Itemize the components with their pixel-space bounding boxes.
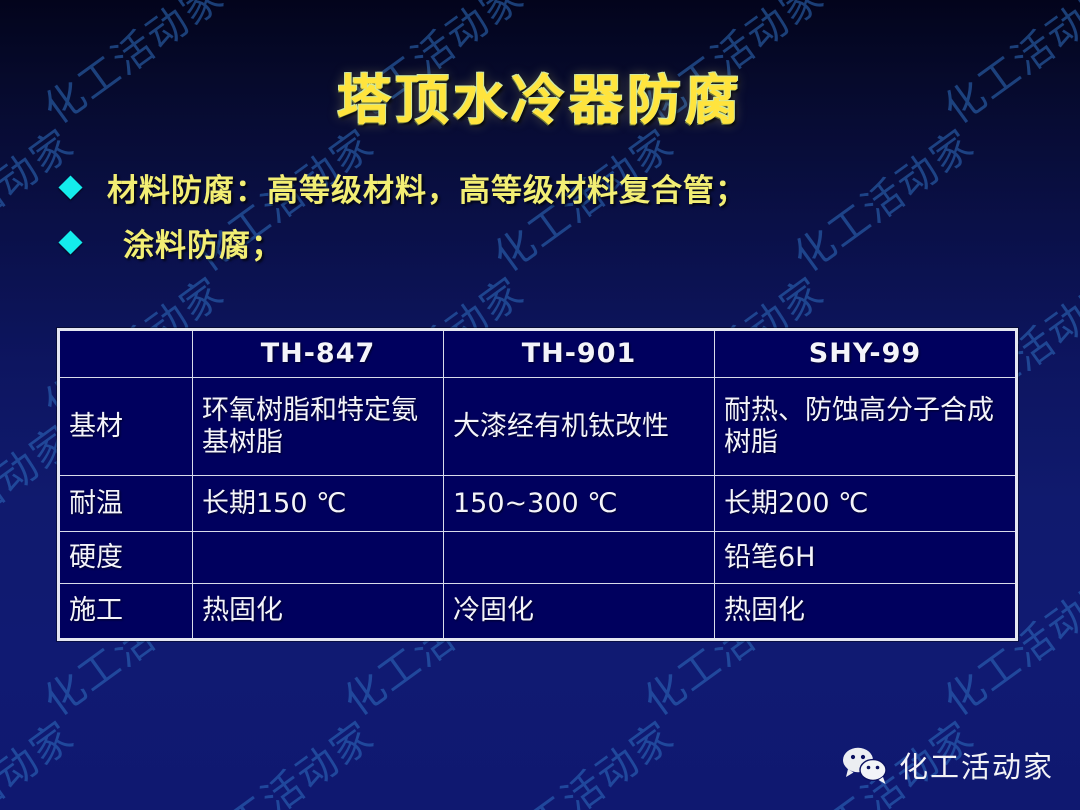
table-cell: 耐热、防蚀高分子合成树脂 (715, 378, 1017, 476)
diamond-bullet-icon (58, 175, 82, 199)
table-row: 基材 环氧树脂和特定氨基树脂 大漆经有机钛改性 耐热、防蚀高分子合成树脂 (59, 378, 1017, 476)
table-cell: 150~300 ℃ (444, 476, 715, 532)
table-cell: 大漆经有机钛改性 (444, 378, 715, 476)
watermark-text: 化工活动家 (180, 705, 384, 810)
table-cell (193, 532, 444, 584)
page-title: 塔顶水冷器防腐 (337, 56, 743, 135)
bullet-item-material: 材料防腐：高等级材料，高等级材料复合管； (62, 165, 1022, 210)
table-row-label: 硬度 (59, 532, 193, 584)
table-cell: 热固化 (715, 584, 1017, 640)
table-row-label: 基材 (59, 378, 193, 476)
table-cell: 长期200 ℃ (715, 476, 1017, 532)
table-cell: 热固化 (193, 584, 444, 640)
table-header-cell-blank (59, 330, 193, 378)
table-row: 硬度 铅笔6H (59, 532, 1017, 584)
table-row-label: 耐温 (59, 476, 193, 532)
bullet-item-label: 材料防腐：高等级材料，高等级材料复合管； (107, 165, 747, 210)
footer-brand: 化工活动家 (841, 744, 1054, 786)
page-title-container: 塔顶水冷器防腐 (0, 56, 1080, 135)
table-cell (444, 532, 715, 584)
table-header-cell-th901: TH-901 (444, 330, 715, 378)
table-cell: 冷固化 (444, 584, 715, 640)
bullet-item-label: 涂料防腐； (123, 220, 283, 265)
watermark-text: 化工活动家 (0, 705, 84, 810)
table-cell: 长期150 ℃ (193, 476, 444, 532)
table-cell: 环氧树脂和特定氨基树脂 (193, 378, 444, 476)
coating-spec-table: TH-847 TH-901 SHY-99 基材 环氧树脂和特定氨基树脂 大漆经有… (57, 328, 1018, 641)
table-cell: 铅笔6H (715, 532, 1017, 584)
diamond-bullet-icon (58, 230, 82, 254)
slide-canvas: 化工活动家化工活动家化工活动家化工活动家化工活动家化工活动家化工活动家化工活动家… (0, 0, 1080, 810)
wechat-icon (841, 745, 889, 785)
table-header-cell-shy99: SHY-99 (715, 330, 1017, 378)
table-header-row: TH-847 TH-901 SHY-99 (59, 330, 1017, 378)
bullet-list: 材料防腐：高等级材料，高等级材料复合管； 涂料防腐； (62, 165, 1022, 275)
footer-brand-label: 化工活动家 (899, 744, 1054, 786)
bullet-item-coating: 涂料防腐； (62, 220, 1022, 265)
table-row: 耐温 长期150 ℃ 150~300 ℃ 长期200 ℃ (59, 476, 1017, 532)
watermark-text: 化工活动家 (480, 705, 684, 810)
table-row: 施工 热固化 冷固化 热固化 (59, 584, 1017, 640)
table-row-label: 施工 (59, 584, 193, 640)
table-header-cell-th847: TH-847 (193, 330, 444, 378)
